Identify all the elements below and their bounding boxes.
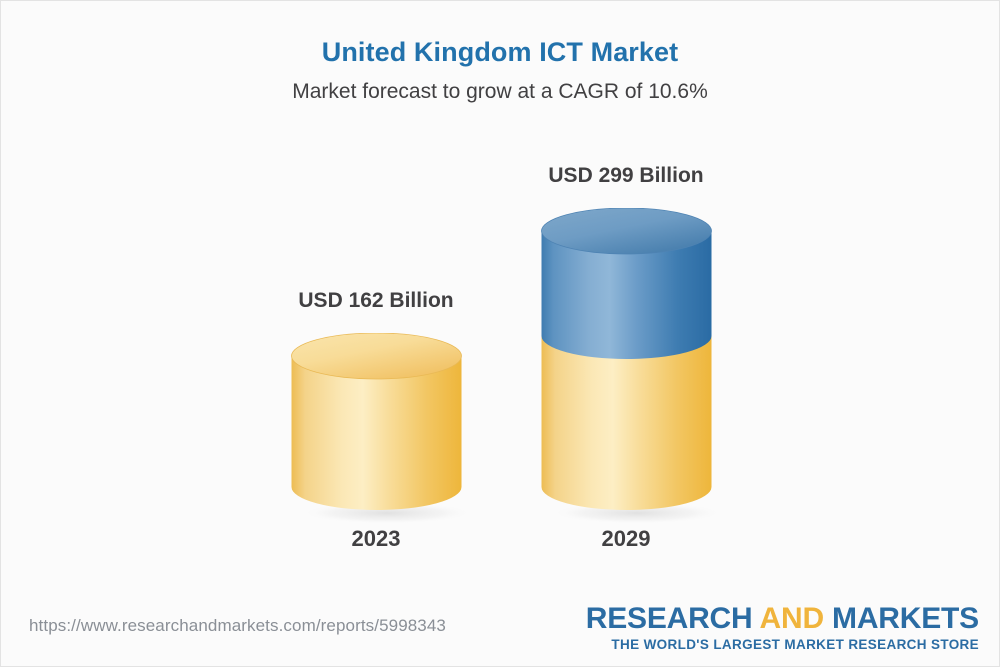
brand-name: RESEARCH AND MARKETS — [586, 603, 979, 635]
bar-value-label-2023: USD 162 Billion — [226, 289, 526, 313]
source-url-link[interactable]: https://www.researchandmarkets.com/repor… — [29, 616, 446, 636]
cylinder-top-2023 — [292, 333, 462, 379]
cylinder-2029 — [541, 208, 727, 525]
chart-plot-area: USD 162 Billion — [1, 1, 1000, 667]
brand-name-part2: MARKETS — [824, 602, 979, 635]
brand-tagline: THE WORLD'S LARGEST MARKET RESEARCH STOR… — [586, 637, 979, 653]
cylinder-segment-base-2029 — [542, 336, 712, 510]
brand-name-and: AND — [760, 602, 824, 635]
brand-logo: RESEARCH AND MARKETS THE WORLD'S LARGEST… — [586, 603, 979, 653]
footer: https://www.researchandmarkets.com/repor… — [1, 594, 1000, 666]
bar-group-2023: USD 162 Billion — [291, 333, 461, 525]
bar-value-label-2029: USD 299 Billion — [476, 164, 776, 188]
brand-name-part1: RESEARCH — [586, 602, 760, 635]
bar-group-2029: USD 299 Billion — [541, 208, 711, 525]
cylinder-2023 — [291, 333, 477, 525]
cylinder-top-2029 — [542, 208, 712, 254]
axis-label-2029: 2029 — [476, 526, 776, 552]
infographic-canvas: United Kingdom ICT Market Market forecas… — [0, 0, 1000, 667]
